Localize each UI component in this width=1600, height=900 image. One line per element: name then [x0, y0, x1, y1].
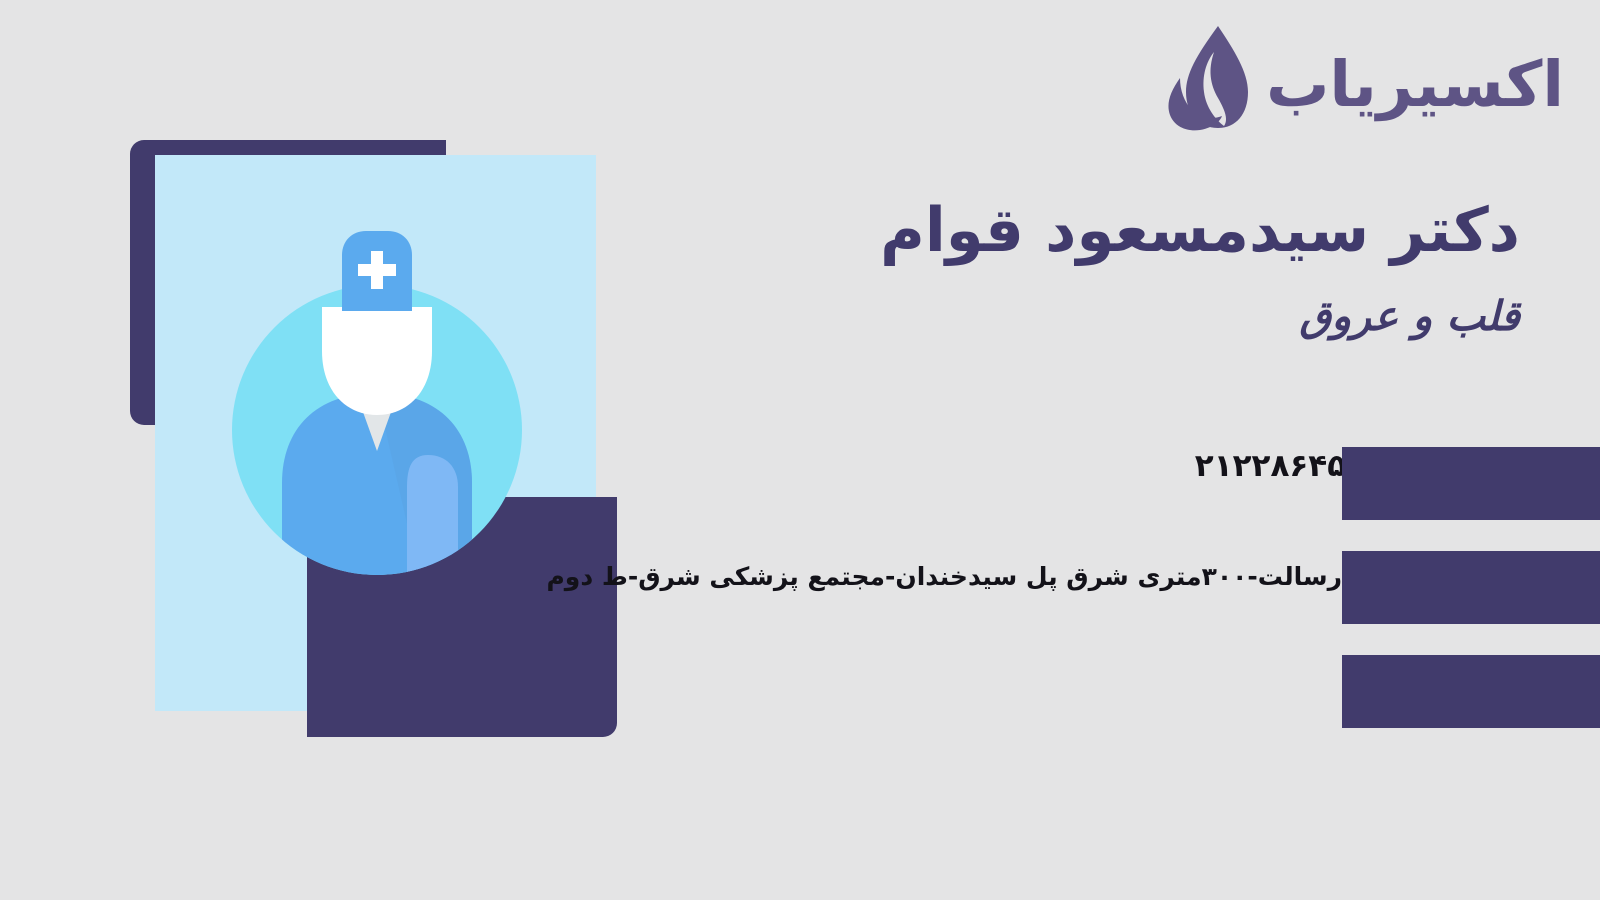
doctor-illustration [0, 0, 700, 900]
doctor-info: دکتر سیدمسعود قوام قلب و عروق [760, 196, 1520, 341]
doctor-name: دکتر سیدمسعود قوام [760, 196, 1520, 266]
flame-droplet-icon [1156, 22, 1260, 134]
doctor-avatar-icon [232, 215, 522, 615]
doctor-address: رسالت-۳۰۰متری شرق پل سیدخندان-مجتمع پزشک… [546, 562, 1342, 591]
doctor-profile-banner: اکسیریاب [0, 0, 1600, 900]
brand-name: اکسیریاب [1266, 53, 1564, 116]
decor-bar-2 [1342, 551, 1600, 624]
doctor-specialty: قلب و عروق [760, 292, 1520, 341]
decor-bar-1 [1342, 447, 1600, 520]
brand-logo[interactable]: اکسیریاب [1156, 22, 1564, 134]
decor-bar-3 [1342, 655, 1600, 728]
